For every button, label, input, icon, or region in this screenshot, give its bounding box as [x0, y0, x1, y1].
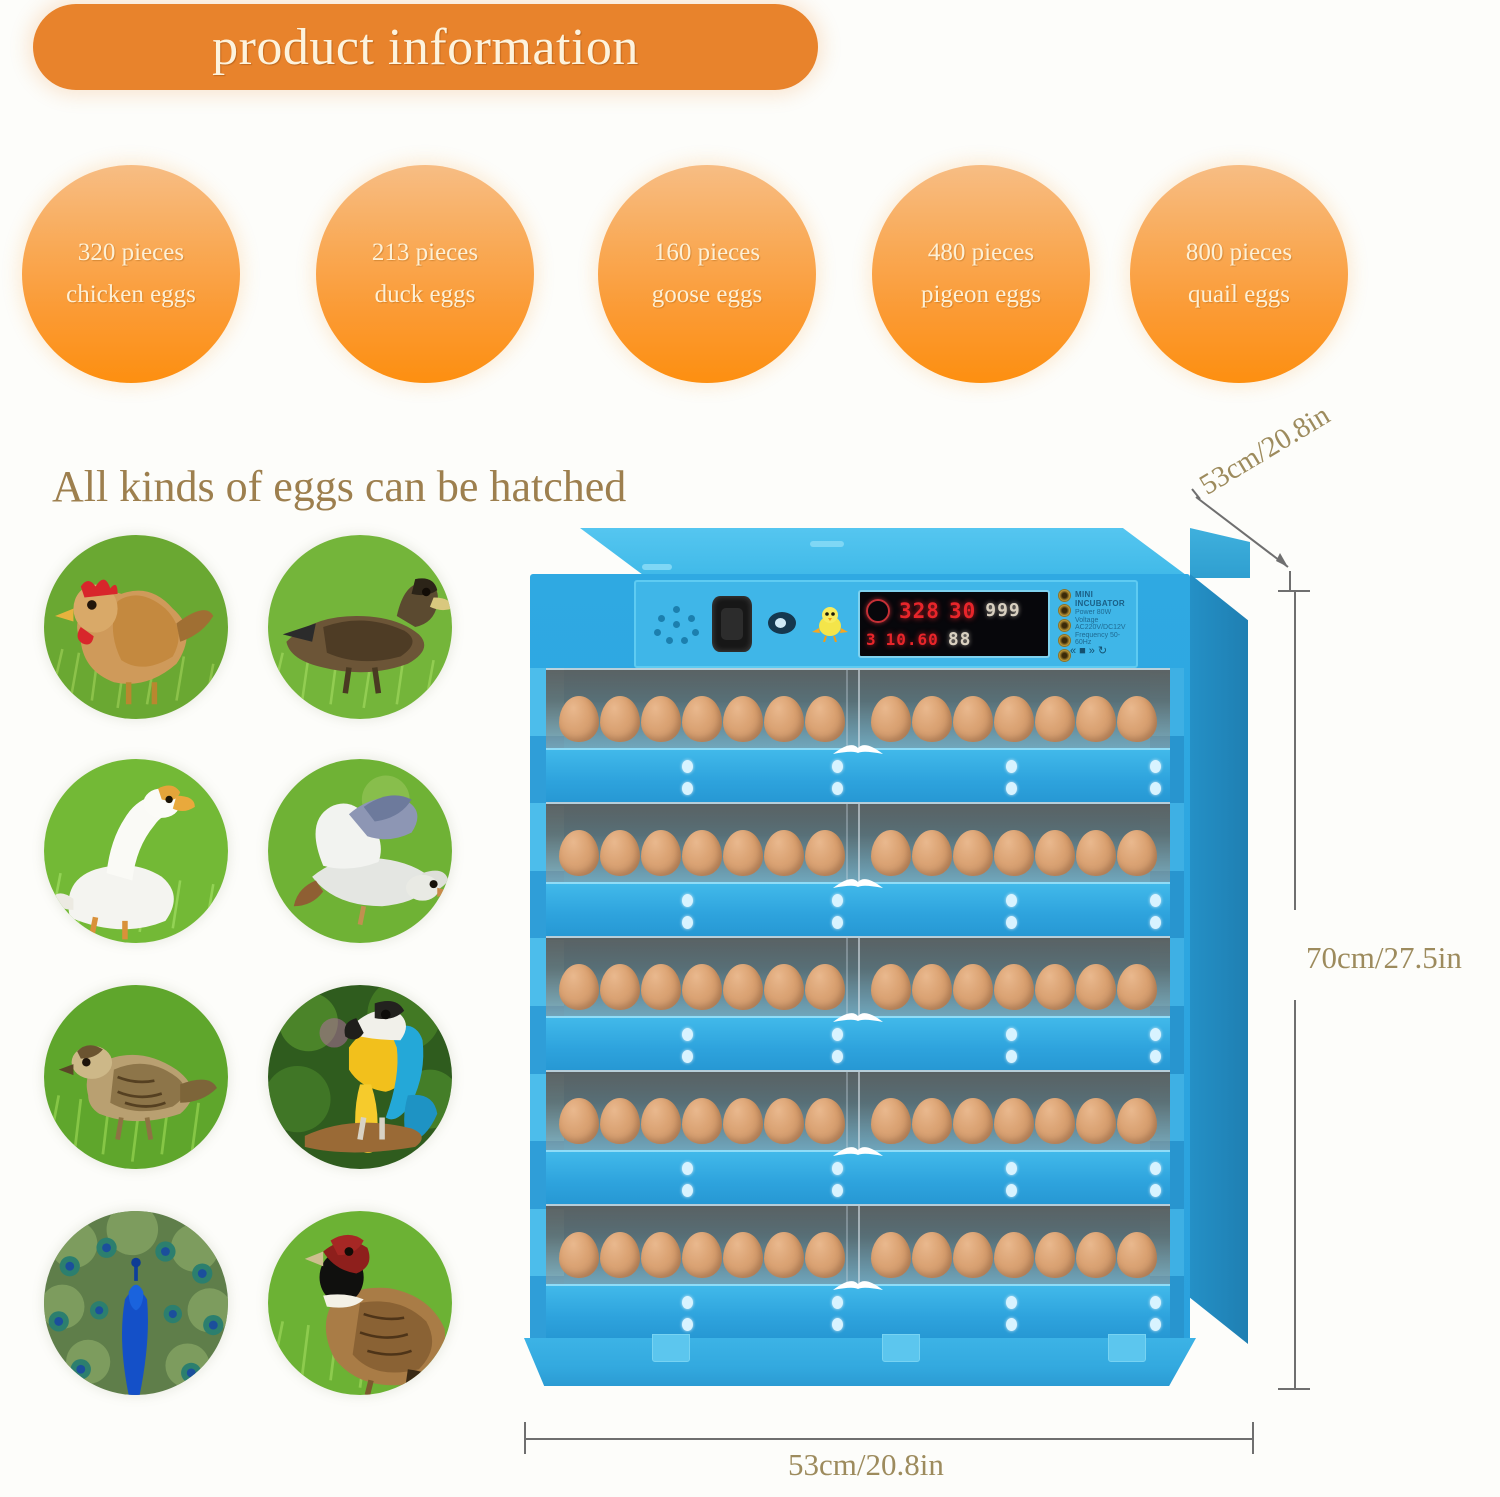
egg: [641, 830, 681, 876]
lid-vent-slot: [642, 564, 672, 570]
egg: [1076, 830, 1116, 876]
egg: [723, 1098, 763, 1144]
egg: [764, 696, 804, 742]
rail-dot: [682, 1050, 693, 1063]
egg: [1076, 1232, 1116, 1278]
rail-dot: [1006, 916, 1017, 929]
egg: [912, 1098, 952, 1144]
rail-dot: [832, 760, 843, 773]
rail-dot: [1150, 1028, 1161, 1041]
rail-dot: [1150, 760, 1161, 773]
rail-dot: [1150, 894, 1161, 907]
egg: [1035, 830, 1075, 876]
rail-dot: [1150, 1050, 1161, 1063]
chick-sticker-icon: [812, 604, 848, 642]
capacity-type: duck eggs: [375, 281, 476, 309]
incubator-product-image: 328 30 999 3 10.60 88 MINI INCUBATOR Pow…: [524, 528, 1244, 1388]
egg: [641, 1098, 681, 1144]
egg: [1035, 696, 1075, 742]
egg: [682, 1232, 722, 1278]
egg-tray-level-1: [546, 668, 1170, 806]
rail-dot: [832, 1296, 843, 1309]
egg: [1035, 964, 1075, 1010]
egg: [871, 1098, 911, 1144]
tray-rail: [546, 748, 1170, 806]
egg-row: [546, 1220, 1170, 1278]
rail-dot: [1006, 1296, 1017, 1309]
egg: [764, 1098, 804, 1144]
egg-row: [546, 1086, 1170, 1144]
rail-dot: [1006, 760, 1017, 773]
rail-dot: [682, 1028, 693, 1041]
page-title-banner: product information: [33, 4, 818, 90]
egg: [953, 830, 993, 876]
rail-dot: [832, 1184, 843, 1197]
rail-dot: [832, 782, 843, 795]
egg: [953, 1098, 993, 1144]
bird-photo-quail: [44, 985, 228, 1169]
tray-rail: [546, 882, 1170, 940]
rail-dot: [682, 916, 693, 929]
egg: [994, 964, 1034, 1010]
power-socket[interactable]: [712, 596, 752, 652]
vent-holes-icon: [654, 606, 700, 644]
rail-dot: [1006, 894, 1017, 907]
egg: [994, 696, 1034, 742]
tray-rail: [546, 1284, 1170, 1342]
egg-group-left: [546, 952, 858, 1010]
rail-dot: [1006, 1162, 1017, 1175]
egg: [764, 830, 804, 876]
duck-icon: [268, 535, 452, 719]
egg: [600, 1232, 640, 1278]
incubator-foot: [882, 1334, 920, 1362]
button-stop[interactable]: ■: [1079, 645, 1086, 657]
goose-icon: [44, 759, 228, 943]
capacity-count: 320 pieces: [78, 239, 184, 267]
rail-dot: [832, 916, 843, 929]
brand-name: MINI INCUBATOR: [1075, 590, 1132, 608]
egg: [912, 1232, 952, 1278]
egg-group-right: [858, 684, 1170, 742]
bird-photo-pigeon: [268, 759, 452, 943]
bird-photo-duck: [268, 535, 452, 719]
capacity-badge-chicken: 320 pieces chicken eggs: [22, 165, 240, 383]
egg: [1035, 1098, 1075, 1144]
egg: [559, 1232, 599, 1278]
egg: [682, 830, 722, 876]
egg: [1076, 964, 1116, 1010]
egg: [723, 964, 763, 1010]
egg-tray: [546, 668, 1170, 748]
led-value-3: 999: [985, 600, 1021, 621]
egg: [723, 696, 763, 742]
center-wing-icon: [831, 1006, 885, 1024]
egg: [994, 1098, 1034, 1144]
egg: [871, 1232, 911, 1278]
egg: [994, 830, 1034, 876]
height-dimension-line-bottom: [1294, 1000, 1296, 1390]
power-switch[interactable]: [768, 612, 796, 634]
capacity-type: goose eggs: [652, 281, 762, 309]
center-wing-icon: [831, 1274, 885, 1292]
egg: [723, 1232, 763, 1278]
tray-rail: [546, 1016, 1170, 1074]
pigeon-icon: [268, 759, 452, 943]
egg-group-left: [546, 818, 858, 876]
rail-dot: [832, 1050, 843, 1063]
led-value-1: 328: [899, 599, 940, 623]
egg-group-left: [546, 1220, 858, 1278]
lid-vent-slot: [810, 541, 844, 547]
egg: [871, 964, 911, 1010]
rail-dot: [682, 1184, 693, 1197]
egg: [641, 1232, 681, 1278]
bird-photo-pheasant: [268, 1211, 452, 1395]
width-tick-right: [1252, 1422, 1254, 1454]
led-display-row-1: 328 30 999: [866, 596, 1042, 625]
rail-dot: [1150, 782, 1161, 795]
led-value-4: 3: [866, 630, 877, 649]
center-wing-icon: [831, 872, 885, 890]
egg-group-right: [858, 1086, 1170, 1144]
peacock-icon: [44, 1211, 228, 1395]
display-indicator-icon: [866, 599, 890, 623]
capacity-badge-duck: 213 pieces duck eggs: [316, 165, 534, 383]
egg-tray: [546, 1070, 1170, 1150]
egg-group-left: [546, 684, 858, 742]
rail-dot: [1006, 1184, 1017, 1197]
rail-dot: [832, 1318, 843, 1331]
egg-group-left: [546, 1086, 858, 1144]
indicator-led: [1058, 619, 1071, 632]
incubator-foot: [1108, 1334, 1146, 1362]
rail-dot: [1150, 1318, 1161, 1331]
egg: [1117, 1098, 1157, 1144]
egg: [1076, 696, 1116, 742]
control-panel: 328 30 999 3 10.60 88 MINI INCUBATOR Pow…: [634, 580, 1138, 668]
rail-dot: [832, 894, 843, 907]
egg-row: [546, 818, 1170, 876]
egg: [600, 964, 640, 1010]
egg: [559, 696, 599, 742]
egg-tray-level-3: [546, 936, 1170, 1074]
height-dimension-line-top: [1294, 590, 1296, 910]
egg: [559, 1098, 599, 1144]
egg-tray: [546, 802, 1170, 882]
bird-photo-chicken: [44, 535, 228, 719]
capacity-badge-quail: 800 pieces quail eggs: [1130, 165, 1348, 383]
egg: [912, 964, 952, 1010]
width-tick-left: [524, 1422, 526, 1454]
egg-tray-level-5: [546, 1204, 1170, 1342]
depth-dimension-arrow: [1186, 485, 1306, 585]
incubator-base: [524, 1338, 1196, 1386]
egg: [871, 830, 911, 876]
egg: [805, 696, 845, 742]
button-next[interactable]: »: [1089, 645, 1095, 657]
rail-dot: [1006, 1318, 1017, 1331]
width-dimension-label: 53cm/20.8in: [788, 1447, 944, 1483]
egg: [600, 830, 640, 876]
egg: [641, 964, 681, 1010]
capacity-type: pigeon eggs: [921, 281, 1041, 309]
capacity-type: chicken eggs: [66, 281, 196, 309]
capacity-count: 160 pieces: [654, 239, 760, 267]
spec-voltage: Voltage AC220V/DC12V: [1075, 617, 1132, 631]
egg: [1117, 696, 1157, 742]
rail-dot: [832, 1162, 843, 1175]
egg-group-right: [858, 1220, 1170, 1278]
rail-dot: [1150, 1162, 1161, 1175]
rail-dot: [682, 894, 693, 907]
capacity-badge-pigeon: 480 pieces pigeon eggs: [872, 165, 1090, 383]
chicken-icon: [44, 535, 228, 719]
tray-rail: [546, 1150, 1170, 1208]
height-tick-top: [1278, 590, 1310, 592]
rail-dot: [682, 782, 693, 795]
egg: [764, 1232, 804, 1278]
egg: [600, 696, 640, 742]
indicator-led: [1058, 589, 1071, 602]
egg-row: [546, 684, 1170, 742]
egg: [871, 696, 911, 742]
quail-icon: [44, 985, 228, 1169]
egg: [682, 964, 722, 1010]
rail-dot: [1006, 782, 1017, 795]
egg: [1117, 964, 1157, 1010]
egg-row: [546, 952, 1170, 1010]
pheasant-icon: [268, 1211, 452, 1395]
egg-tray: [546, 1204, 1170, 1284]
egg: [805, 830, 845, 876]
egg: [953, 696, 993, 742]
egg: [682, 1098, 722, 1144]
rail-dot: [682, 760, 693, 773]
egg: [559, 964, 599, 1010]
rail-dot: [1006, 1050, 1017, 1063]
capacity-count: 800 pieces: [1186, 239, 1292, 267]
rail-dot: [682, 1296, 693, 1309]
egg: [994, 1232, 1034, 1278]
capacity-badge-goose: 160 pieces goose eggs: [598, 165, 816, 383]
egg: [805, 1232, 845, 1278]
led-value-5: 10.60: [886, 630, 939, 649]
egg: [912, 830, 952, 876]
egg: [723, 830, 763, 876]
rail-dot: [1150, 916, 1161, 929]
egg-group-right: [858, 818, 1170, 876]
led-display: 328 30 999 3 10.60 88: [858, 590, 1050, 658]
egg-tray-level-2: [546, 802, 1170, 940]
width-dimension-line: [524, 1438, 1254, 1440]
button-reset[interactable]: ↻: [1098, 644, 1107, 657]
incubator-foot: [652, 1334, 690, 1362]
rail-dot: [682, 1162, 693, 1175]
rail-dot: [1150, 1184, 1161, 1197]
egg-tray-level-4: [546, 1070, 1170, 1208]
led-value-2: 30: [949, 599, 976, 623]
hatch-section-heading: All kinds of eggs can be hatched: [52, 461, 626, 512]
egg: [682, 696, 722, 742]
panel-buttons[interactable]: « ■ » ↻: [1070, 644, 1107, 657]
egg: [1117, 830, 1157, 876]
spec-power: Power 80W: [1075, 609, 1132, 616]
rail-dot: [1006, 1028, 1017, 1041]
button-prev[interactable]: «: [1070, 645, 1076, 657]
egg: [805, 1098, 845, 1144]
egg: [953, 1232, 993, 1278]
center-wing-icon: [831, 738, 885, 756]
rail-dot: [682, 1318, 693, 1331]
capacity-count: 480 pieces: [928, 239, 1034, 267]
led-display-row-2: 3 10.60 88: [866, 625, 1042, 654]
egg: [912, 696, 952, 742]
capacity-count: 213 pieces: [372, 239, 478, 267]
egg: [1076, 1098, 1116, 1144]
incubator-lid: [580, 528, 1190, 578]
bird-photo-parrot: [268, 985, 452, 1169]
egg-group-right: [858, 952, 1170, 1010]
egg: [1035, 1232, 1075, 1278]
height-dimension-label: 70cm/27.5in: [1306, 940, 1462, 976]
parrot-icon: [268, 985, 452, 1169]
egg: [953, 964, 993, 1010]
egg: [600, 1098, 640, 1144]
egg: [1117, 1232, 1157, 1278]
egg-tray: [546, 936, 1170, 1016]
height-tick-bottom: [1278, 1388, 1310, 1390]
indicator-led: [1058, 604, 1071, 617]
bird-photo-goose: [44, 759, 228, 943]
page-title: product information: [212, 18, 639, 77]
led-value-6: 88: [948, 629, 972, 650]
egg: [805, 964, 845, 1010]
rail-dot: [832, 1028, 843, 1041]
egg: [764, 964, 804, 1010]
egg: [559, 830, 599, 876]
center-wing-icon: [831, 1140, 885, 1158]
incubator-right-side: [1190, 574, 1248, 1344]
capacity-type: quail eggs: [1188, 281, 1290, 309]
rail-dot: [1150, 1296, 1161, 1309]
egg: [641, 696, 681, 742]
bird-photo-peacock: [44, 1211, 228, 1395]
